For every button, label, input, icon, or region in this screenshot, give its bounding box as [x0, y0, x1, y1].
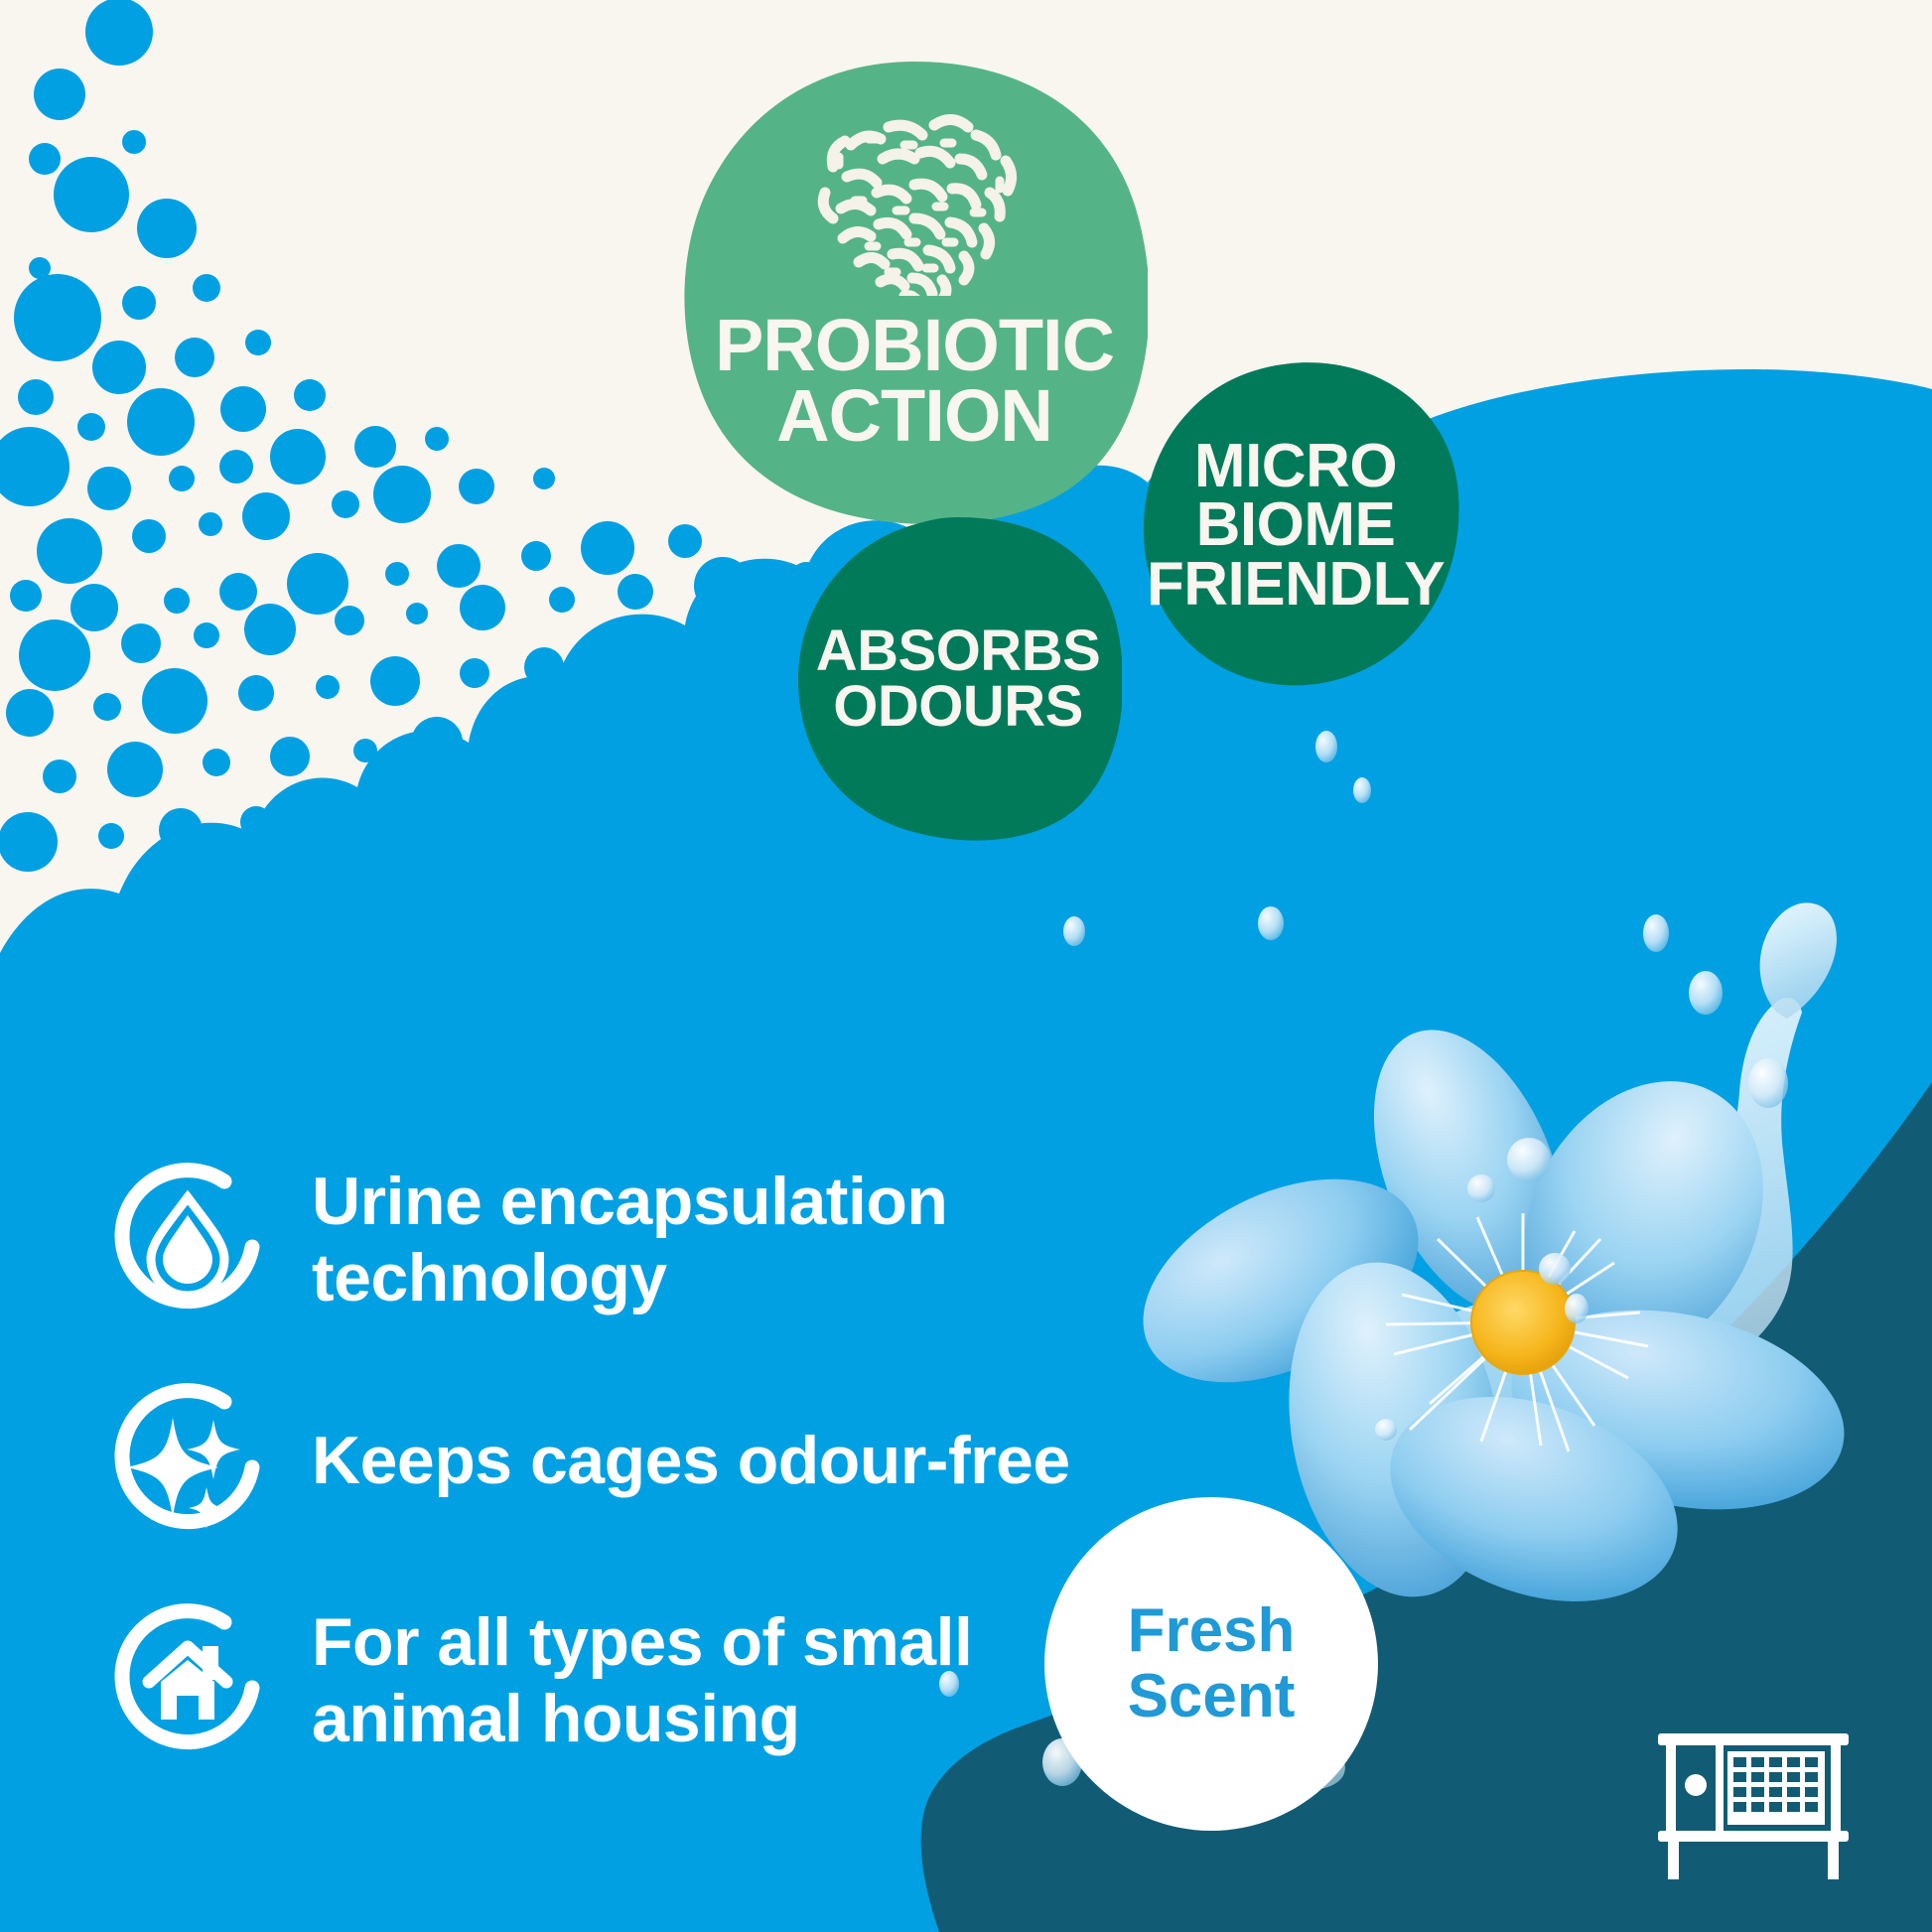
feature-label: Keeps cages odour-free [312, 1423, 1070, 1499]
badge-absorbs-odours: ABSORBS ODOURS [794, 515, 1122, 843]
feature-label: For all types of small animal housing [312, 1604, 972, 1757]
product-benefits-infographic: PROBIOTIC ACTION ABSORBS ODOURS MICRO BI… [0, 0, 1932, 1932]
badge-microbiome-label: MICRO BIOME FRIENDLY [1147, 437, 1445, 615]
bacteria-heart-icon [785, 97, 1043, 296]
house-icon [107, 1600, 268, 1761]
feature-label: Urine encapsulation technology [312, 1164, 947, 1316]
feature-small-animal-housing: For all types of small animal housing [107, 1600, 1100, 1761]
sparkle-icon [107, 1380, 268, 1541]
badge-micro-biome-friendly: MICRO BIOME FRIENDLY [1132, 361, 1459, 689]
water-drop-icon [107, 1160, 268, 1320]
badge-probiotic-action: PROBIOTIC ACTION [681, 60, 1148, 526]
feature-odour-free-cages: Keeps cages odour-free [107, 1380, 1100, 1541]
feature-urine-encapsulation: Urine encapsulation technology [107, 1160, 1100, 1320]
badge-absorbs-label: ABSORBS ODOURS [816, 623, 1101, 734]
small-animal-cage-icon [1652, 1725, 1855, 1890]
badge-probiotic-label: PROBIOTIC ACTION [715, 310, 1114, 451]
feature-list: Urine encapsulation technology Keeps cag… [107, 1160, 1100, 1761]
fresh-scent-label: Fresh Scent [1128, 1598, 1296, 1728]
fresh-scent-badge: Fresh Scent [1044, 1497, 1378, 1831]
